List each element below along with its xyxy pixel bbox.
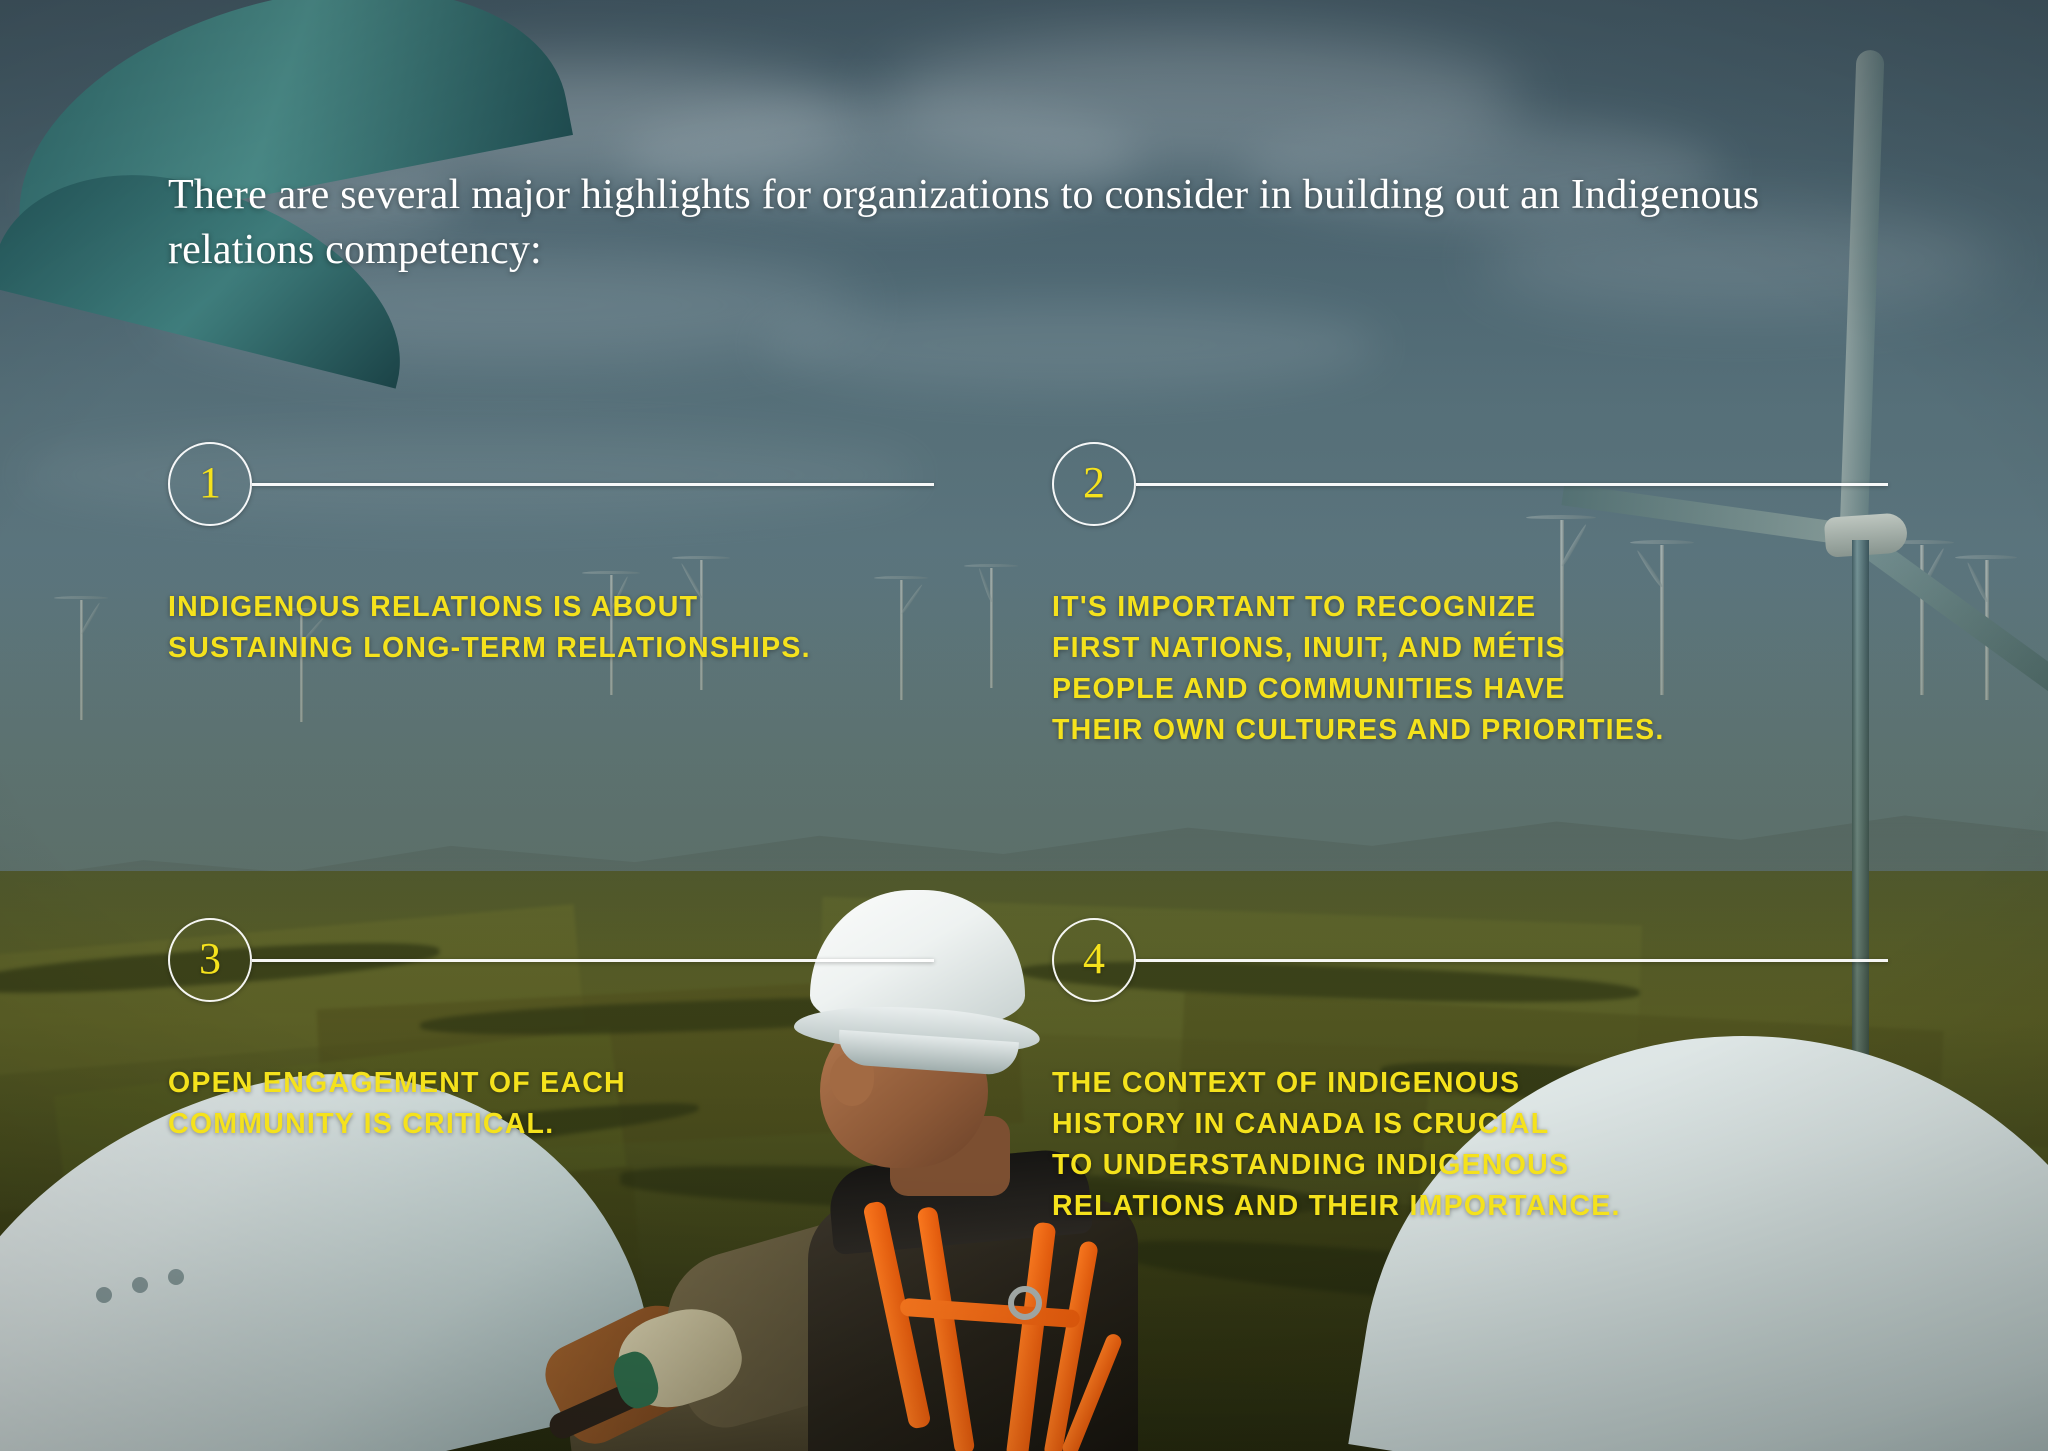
highlight-item-1: 1 INDIGENOUS RELATIONS IS ABOUT SUSTAINI… xyxy=(168,442,988,669)
highlight-item-4: 4 THE CONTEXT OF INDIGENOUS HISTORY IN C… xyxy=(1052,918,1932,1227)
highlight-number-4: 4 xyxy=(1083,937,1105,981)
highlight-item-3: 3 OPEN ENGAGEMENT OF EACH COMMUNITY IS C… xyxy=(168,918,988,1145)
highlight-number-circle-2: 2 xyxy=(1052,442,1136,526)
highlight-text-4: THE CONTEXT OF INDIGENOUS HISTORY IN CAN… xyxy=(1052,1063,1932,1227)
highlight-rule-3 xyxy=(252,959,934,962)
highlight-text-1: INDIGENOUS RELATIONS IS ABOUT SUSTAINING… xyxy=(168,587,988,669)
highlight-number-1: 1 xyxy=(199,461,221,505)
slide-canvas: There are several major highlights for o… xyxy=(0,0,2048,1451)
highlight-number-circle-1: 1 xyxy=(168,442,252,526)
highlight-marker-row-1: 1 xyxy=(168,442,988,528)
highlight-text-2: IT'S IMPORTANT TO RECOGNIZE FIRST NATION… xyxy=(1052,587,1932,751)
highlight-item-2: 2 IT'S IMPORTANT TO RECOGNIZE FIRST NATI… xyxy=(1052,442,1932,751)
highlight-marker-row-3: 3 xyxy=(168,918,988,1004)
highlight-number-circle-4: 4 xyxy=(1052,918,1136,1002)
slide-content: There are several major highlights for o… xyxy=(0,0,2048,1451)
highlight-marker-row-4: 4 xyxy=(1052,918,1932,1004)
highlight-number-3: 3 xyxy=(199,937,221,981)
highlight-rule-4 xyxy=(1136,959,1888,962)
highlight-number-2: 2 xyxy=(1083,461,1105,505)
highlights-grid: 1 INDIGENOUS RELATIONS IS ABOUT SUSTAINI… xyxy=(0,0,2048,1451)
highlight-marker-row-2: 2 xyxy=(1052,442,1932,528)
highlight-text-3: OPEN ENGAGEMENT OF EACH COMMUNITY IS CRI… xyxy=(168,1063,988,1145)
highlight-rule-2 xyxy=(1136,483,1888,486)
highlight-number-circle-3: 3 xyxy=(168,918,252,1002)
highlight-rule-1 xyxy=(252,483,934,486)
